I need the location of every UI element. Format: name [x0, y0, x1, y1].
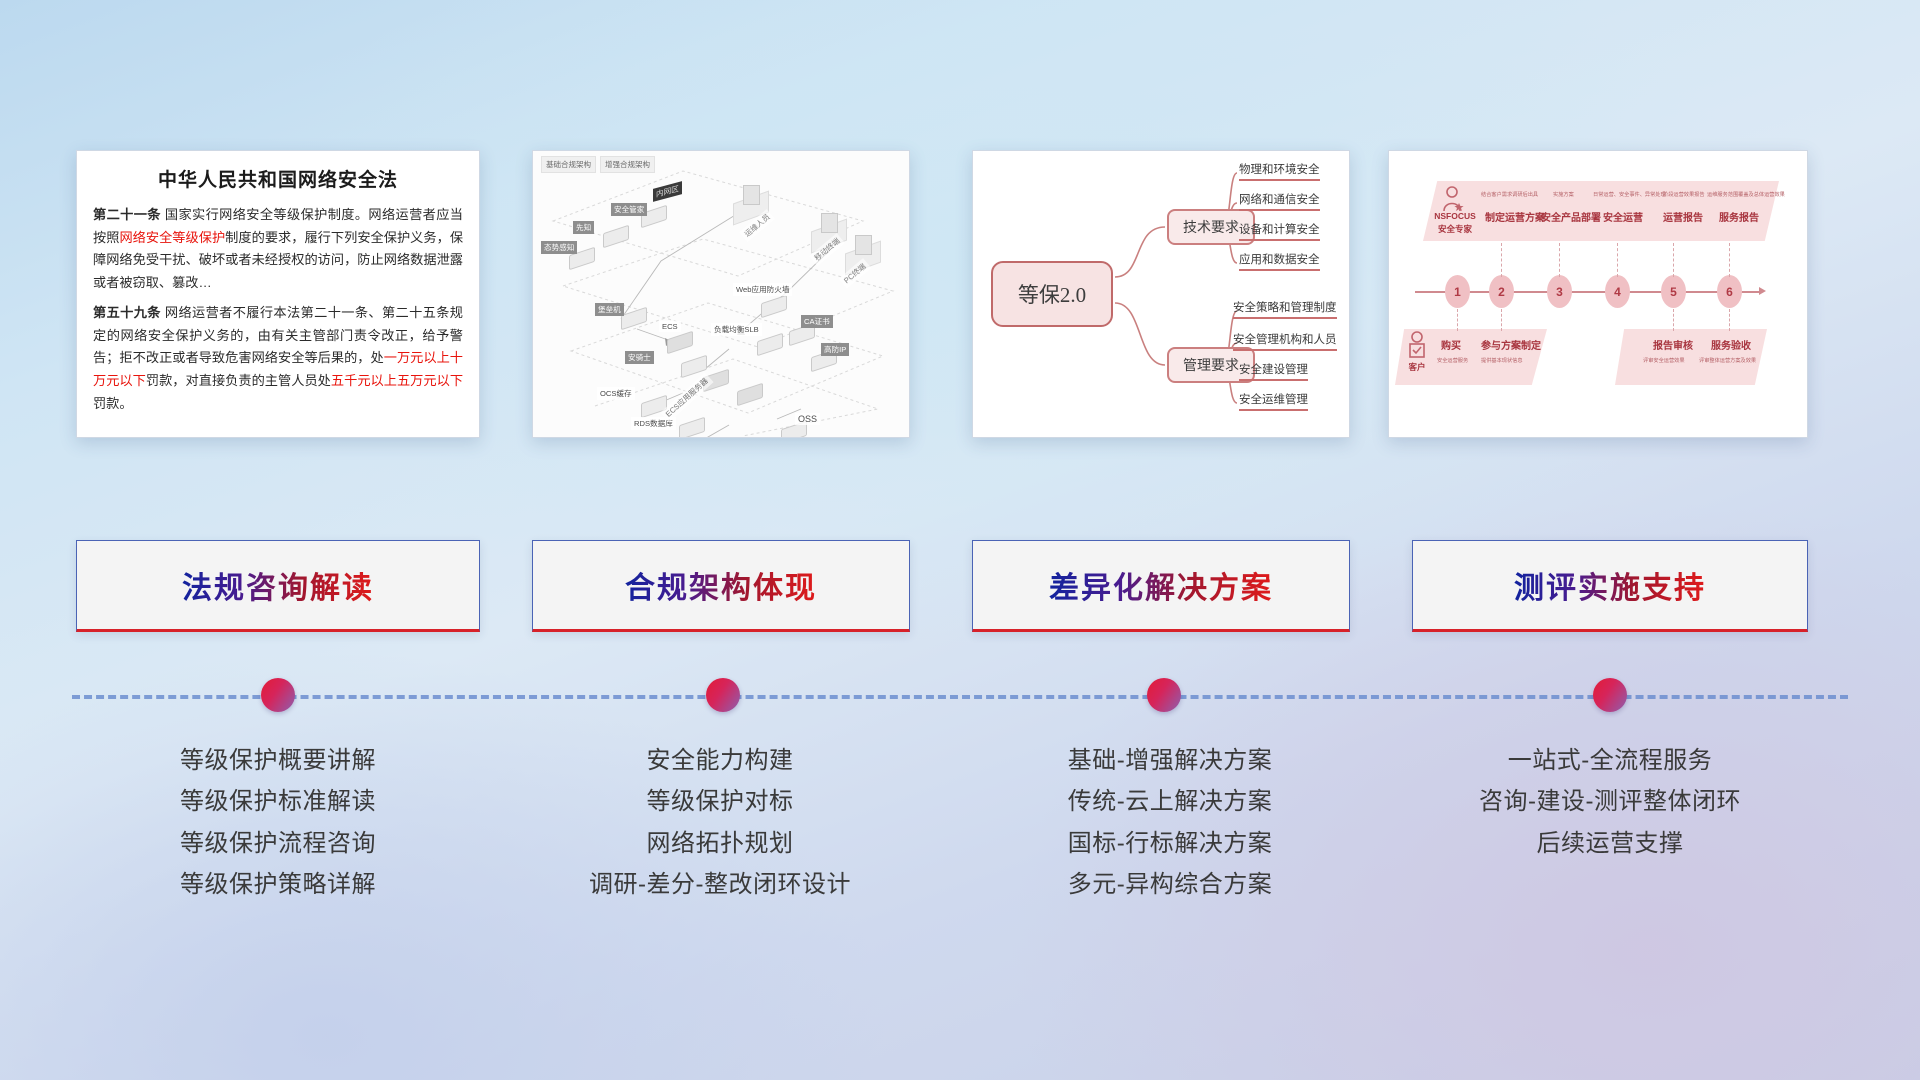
client-icon [1405, 331, 1429, 361]
headline-label-1: 法规咨询解读 [182, 563, 374, 607]
roadmap-canvas: NSFOCUS 安全专家 客户 1 2 3 4 5 6 [1389, 151, 1807, 437]
roadmap-bottom-sub-5: 评审安全运营效果 [1643, 357, 1685, 364]
law-seg-2-4: 罚款。 [93, 396, 133, 411]
law-body: 中华人民共和国网络安全法 第二十一条 国家实行网络安全等级保护制度。网络运营者应… [77, 151, 479, 432]
timeline-node-4[interactable] [1593, 678, 1627, 712]
timeline-node-3[interactable] [1147, 678, 1181, 712]
law-paragraph-2: 第五十九条 网络运营者不履行本法第二十一条、第二十五条规定的网络安全保护义务的，… [93, 302, 463, 416]
list-item: 传统-云上解决方案 [960, 781, 1380, 822]
list-item: 等级保护对标 [510, 781, 930, 822]
roadmap-tick-up-4 [1617, 243, 1618, 277]
roadmap-axis-arrow-icon [1759, 287, 1766, 295]
roadmap-bottom-main-1: 购买 [1441, 337, 1461, 352]
roadmap-top-main-2: 制定运营方案 [1485, 209, 1545, 224]
timeline-node-2[interactable] [706, 678, 740, 712]
headline-box-assessment-support[interactable]: 测评实施支持 [1412, 540, 1808, 632]
law-title: 中华人民共和国网络安全法 [93, 165, 463, 192]
timeline-strip [0, 670, 1920, 730]
roadmap-dot-3[interactable]: 3 [1547, 275, 1572, 308]
roadmap-tick-up-6 [1729, 243, 1730, 277]
detail-column-3: 基础-增强解决方案 传统-云上解决方案 国标-行标解决方案 多元-异构综合方案 [960, 740, 1380, 905]
list-item: 等级保护流程咨询 [76, 823, 480, 864]
headline-label-2: 合规架构体现 [625, 563, 817, 607]
roadmap-top-sub-5: 阶段运营效果报告 [1663, 191, 1705, 198]
headline-box-compliance-architecture[interactable]: 合规架构体现 [532, 540, 910, 632]
architecture-diagram-card[interactable]: 基础合规架构 增强合规架构 [532, 150, 910, 438]
list-item: 一站式-全流程服务 [1400, 740, 1820, 781]
list-item: 等级保护标准解读 [76, 781, 480, 822]
detail-column-2: 安全能力构建 等级保护对标 网络拓扑规划 调研-差分-整改闭环设计 [510, 740, 930, 905]
mindmap-leaf-network-comm[interactable]: 网络和通信安全 [1239, 191, 1320, 211]
list-item: 咨询-建设-测评整体闭环 [1400, 781, 1820, 822]
expert-brand-label: NSFOCUS [1427, 211, 1483, 221]
detail-column-4: 一站式-全流程服务 咨询-建设-测评整体闭环 后续运营支撑 [1400, 740, 1820, 864]
roadmap-dot-1[interactable]: 1 [1445, 275, 1470, 308]
roadmap-tick-down-1 [1457, 309, 1458, 331]
roadmap-bottom-main-6: 服务验收 [1711, 337, 1751, 352]
iso-screen-mobile [821, 213, 838, 233]
architecture-canvas: 基础合规架构 增强合规架构 [533, 151, 909, 437]
detail-column-1: 等级保护概要讲解 等级保护标准解读 等级保护流程咨询 等级保护策略详解 [76, 740, 480, 905]
headline-label-4: 测评实施支持 [1514, 563, 1706, 607]
roadmap-top-sub-2: 结合客户需求调研后出具 [1481, 191, 1538, 198]
law-paragraph-1: 第二十一条 国家实行网络安全等级保护制度。网络运营者应当按照网络安全等级保护制度… [93, 204, 463, 295]
roadmap-bottom-sub-6: 评审整体运营方案及效果 [1699, 357, 1756, 364]
expert-role-label: 安全专家 [1427, 223, 1483, 235]
detail-column-row: 等级保护概要讲解 等级保护标准解读 等级保护流程咨询 等级保护策略详解 安全能力… [0, 740, 1920, 990]
list-item: 安全能力构建 [510, 740, 930, 781]
roadmap-top-main-3: 安全产品部署 [1541, 209, 1601, 224]
headline-box-differentiated-solution[interactable]: 差异化解决方案 [972, 540, 1350, 632]
roadmap-top-main-4: 安全运营 [1603, 209, 1643, 224]
law-article-number-2: 第五十九条 [93, 305, 161, 320]
mindmap-card[interactable]: 等保2.0 技术要求 管理要求 物理和环境安全 网络和通信安全 设备和计算安全 … [972, 150, 1350, 438]
roadmap-tick-down-6 [1729, 309, 1730, 331]
arch-label-ecs: ECS [659, 321, 681, 332]
arch-label-anqishi: 安骑士 [625, 351, 654, 364]
roadmap-tick-up-2 [1501, 243, 1502, 277]
list-item: 等级保护概要讲解 [76, 740, 480, 781]
roadmap-dot-5[interactable]: 5 [1661, 275, 1686, 308]
list-item: 调研-差分-整改闭环设计 [510, 864, 930, 905]
law-seg-2-2: 罚款，对直接负责的主管人员处 [146, 373, 331, 388]
roadmap-bottom-sub-1: 安全运营服务 [1437, 357, 1468, 364]
arch-label-xianzhi: 先知 [573, 221, 594, 234]
roadmap-bottom-main-2: 参与方案制定 [1481, 337, 1541, 352]
list-item: 等级保护策略详解 [76, 864, 480, 905]
arch-label-bastion-host: 堡垒机 [595, 303, 624, 316]
list-item: 网络拓扑规划 [510, 823, 930, 864]
roadmap-tick-up-5 [1673, 243, 1674, 277]
list-item: 多元-异构综合方案 [960, 864, 1380, 905]
arch-label-situational-awareness: 态势感知 [541, 241, 577, 254]
mindmap-leaf-physical-env[interactable]: 物理和环境安全 [1239, 161, 1320, 181]
roadmap-dot-2[interactable]: 2 [1489, 275, 1514, 308]
roadmap-top-main-5: 运营报告 [1663, 209, 1703, 224]
arch-label-slb: 负载均衡SLB [711, 323, 762, 336]
arch-label-security-butler: 安全管家 [611, 203, 647, 216]
iso-screen-ops-staff [743, 185, 760, 205]
mindmap-leaf-org-personnel[interactable]: 安全管理机构和人员 [1233, 331, 1337, 351]
roadmap-bottom-sub-2: 提供基本现状信息 [1481, 357, 1523, 364]
headline-label-3: 差异化解决方案 [1049, 563, 1273, 607]
iso-screen-pc [855, 235, 872, 255]
mindmap-root-node[interactable]: 等保2.0 [991, 261, 1113, 327]
roadmap-top-sub-6: 运维服务范围覆盖及总体运营效果 [1707, 191, 1785, 198]
law-seg-1-1: 网络安全等级保护 [119, 230, 225, 245]
roadmap-top-sub-4: 日常运营、安全事件、异常处理 [1593, 191, 1666, 198]
mindmap-leaf-ops-mgmt[interactable]: 安全运维管理 [1239, 391, 1308, 411]
timeline-node-1[interactable] [261, 678, 295, 712]
mindmap-leaf-device-compute[interactable]: 设备和计算安全 [1239, 221, 1320, 241]
law-seg-2-3: 五千元以上五万元以下 [331, 373, 463, 388]
arch-label-oss: OSS [795, 413, 820, 425]
security-expert-icon [1439, 185, 1465, 213]
architecture-connector-layer [533, 151, 910, 438]
law-text-card[interactable]: 中华人民共和国网络安全法 第二十一条 国家实行网络安全等级保护制度。网络运营者应… [76, 150, 480, 438]
headline-box-regulation-consulting[interactable]: 法规咨询解读 [76, 540, 480, 632]
roadmap-top-sub-3: 实施方案 [1553, 191, 1574, 198]
roadmap-bottom-main-5: 报告审核 [1653, 337, 1693, 352]
law-article-number-1: 第二十一条 [93, 207, 161, 222]
slide-canvas: 中华人民共和国网络安全法 第二十一条 国家实行网络安全等级保护制度。网络运营者应… [0, 0, 1920, 1080]
headline-box-row: 法规咨询解读 合规架构体现 差异化解决方案 测评实施支持 [0, 540, 1920, 650]
roadmap-dot-4[interactable]: 4 [1605, 275, 1630, 308]
arch-label-ocs-cache: OCS缓存 [597, 387, 635, 400]
service-roadmap-card[interactable]: NSFOCUS 安全专家 客户 1 2 3 4 5 6 [1388, 150, 1808, 438]
mindmap-canvas: 等保2.0 技术要求 管理要求 物理和环境安全 网络和通信安全 设备和计算安全 … [973, 151, 1349, 437]
arch-label-anti-ddos-ip: 高防IP [821, 343, 849, 356]
roadmap-dot-6[interactable]: 6 [1717, 275, 1742, 308]
arch-label-waf: Web应用防火墙 [733, 283, 792, 296]
list-item: 国标-行标解决方案 [960, 823, 1380, 864]
mindmap-leaf-app-data[interactable]: 应用和数据安全 [1239, 251, 1320, 271]
roadmap-top-main-6: 服务报告 [1719, 209, 1759, 224]
list-item: 后续运营支撑 [1400, 823, 1820, 864]
thumbnail-card-row: 中华人民共和国网络安全法 第二十一条 国家实行网络安全等级保护制度。网络运营者应… [0, 0, 1920, 460]
arch-label-ca-cert: CA证书 [801, 315, 833, 328]
mindmap-leaf-construction-mgmt[interactable]: 安全建设管理 [1239, 361, 1308, 381]
roadmap-tick-down-2 [1501, 309, 1502, 331]
roadmap-tick-up-3 [1559, 243, 1560, 277]
list-item: 基础-增强解决方案 [960, 740, 1380, 781]
roadmap-tick-down-5 [1673, 309, 1674, 331]
client-role-label: 客户 [1397, 361, 1437, 373]
timeline-dashed-line [72, 695, 1848, 699]
mindmap-leaf-policy-system[interactable]: 安全策略和管理制度 [1233, 299, 1337, 319]
